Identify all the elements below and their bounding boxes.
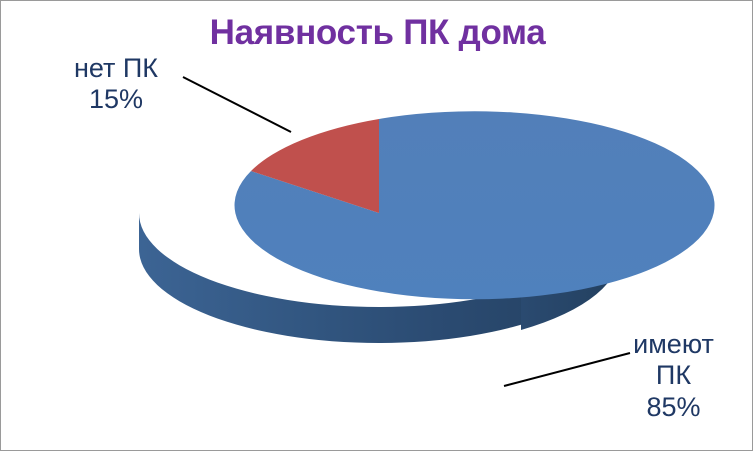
data-label-net-pk: нет ПК 15% bbox=[41, 53, 191, 116]
data-label-imeyut-pk: имеют ПК 85% bbox=[601, 329, 746, 423]
leader-line-net-pk bbox=[183, 77, 291, 132]
chart-canvas: Наявность ПК дома bbox=[0, 0, 753, 451]
